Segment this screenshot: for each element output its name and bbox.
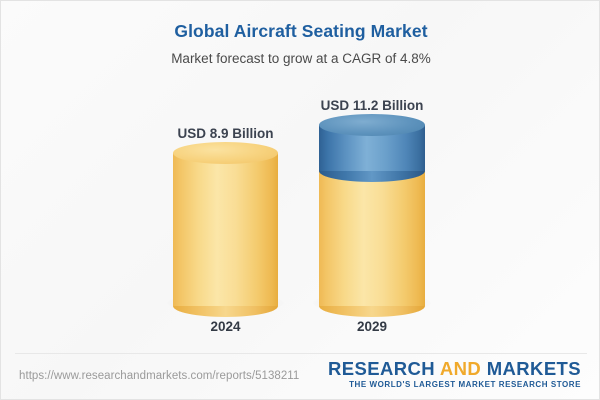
logo-word-markets: MARKETS <box>481 358 581 379</box>
logo-word-and: AND <box>440 358 481 379</box>
bar-value-label-2029: USD 11.2 Billion <box>321 98 424 113</box>
cylinder-body-2024 <box>173 153 278 306</box>
bar-category-label-2024: 2024 <box>210 319 240 334</box>
cylinder-2029 <box>319 125 425 306</box>
report-url-link[interactable]: https://www.researchandmarkets.com/repor… <box>19 370 299 382</box>
logo-wordmark: RESEARCH AND MARKETS <box>328 359 581 378</box>
cylinder-body-2029 <box>319 171 425 306</box>
bar-segment-growth-2029 <box>319 125 425 171</box>
bar-group-2029[interactable]: USD 11.2 Billion 2029 <box>319 125 425 306</box>
cylinder-2024 <box>173 153 278 306</box>
logo-tagline: THE WORLD'S LARGEST MARKET RESEARCH STOR… <box>328 380 581 389</box>
footer-divider <box>15 353 587 354</box>
plot-area: USD 8.9 Billion 2024 USD 11.2 Billion <box>1 1 600 353</box>
chart-card: Global Aircraft Seating Market Market fo… <box>0 0 600 400</box>
cylinder-top-2029 <box>319 114 425 136</box>
logo-word-research: RESEARCH <box>328 358 440 379</box>
brand-logo[interactable]: RESEARCH AND MARKETS THE WORLD'S LARGEST… <box>328 359 581 389</box>
bar-value-label-2024: USD 8.9 Billion <box>177 126 273 141</box>
bar-segment-base-2029 <box>319 171 425 306</box>
bar-segment-base-2024 <box>173 153 278 306</box>
bar-group-2024[interactable]: USD 8.9 Billion 2024 <box>173 153 278 306</box>
bar-category-label-2029: 2029 <box>357 319 387 334</box>
cylinder-top-2024 <box>173 142 278 164</box>
